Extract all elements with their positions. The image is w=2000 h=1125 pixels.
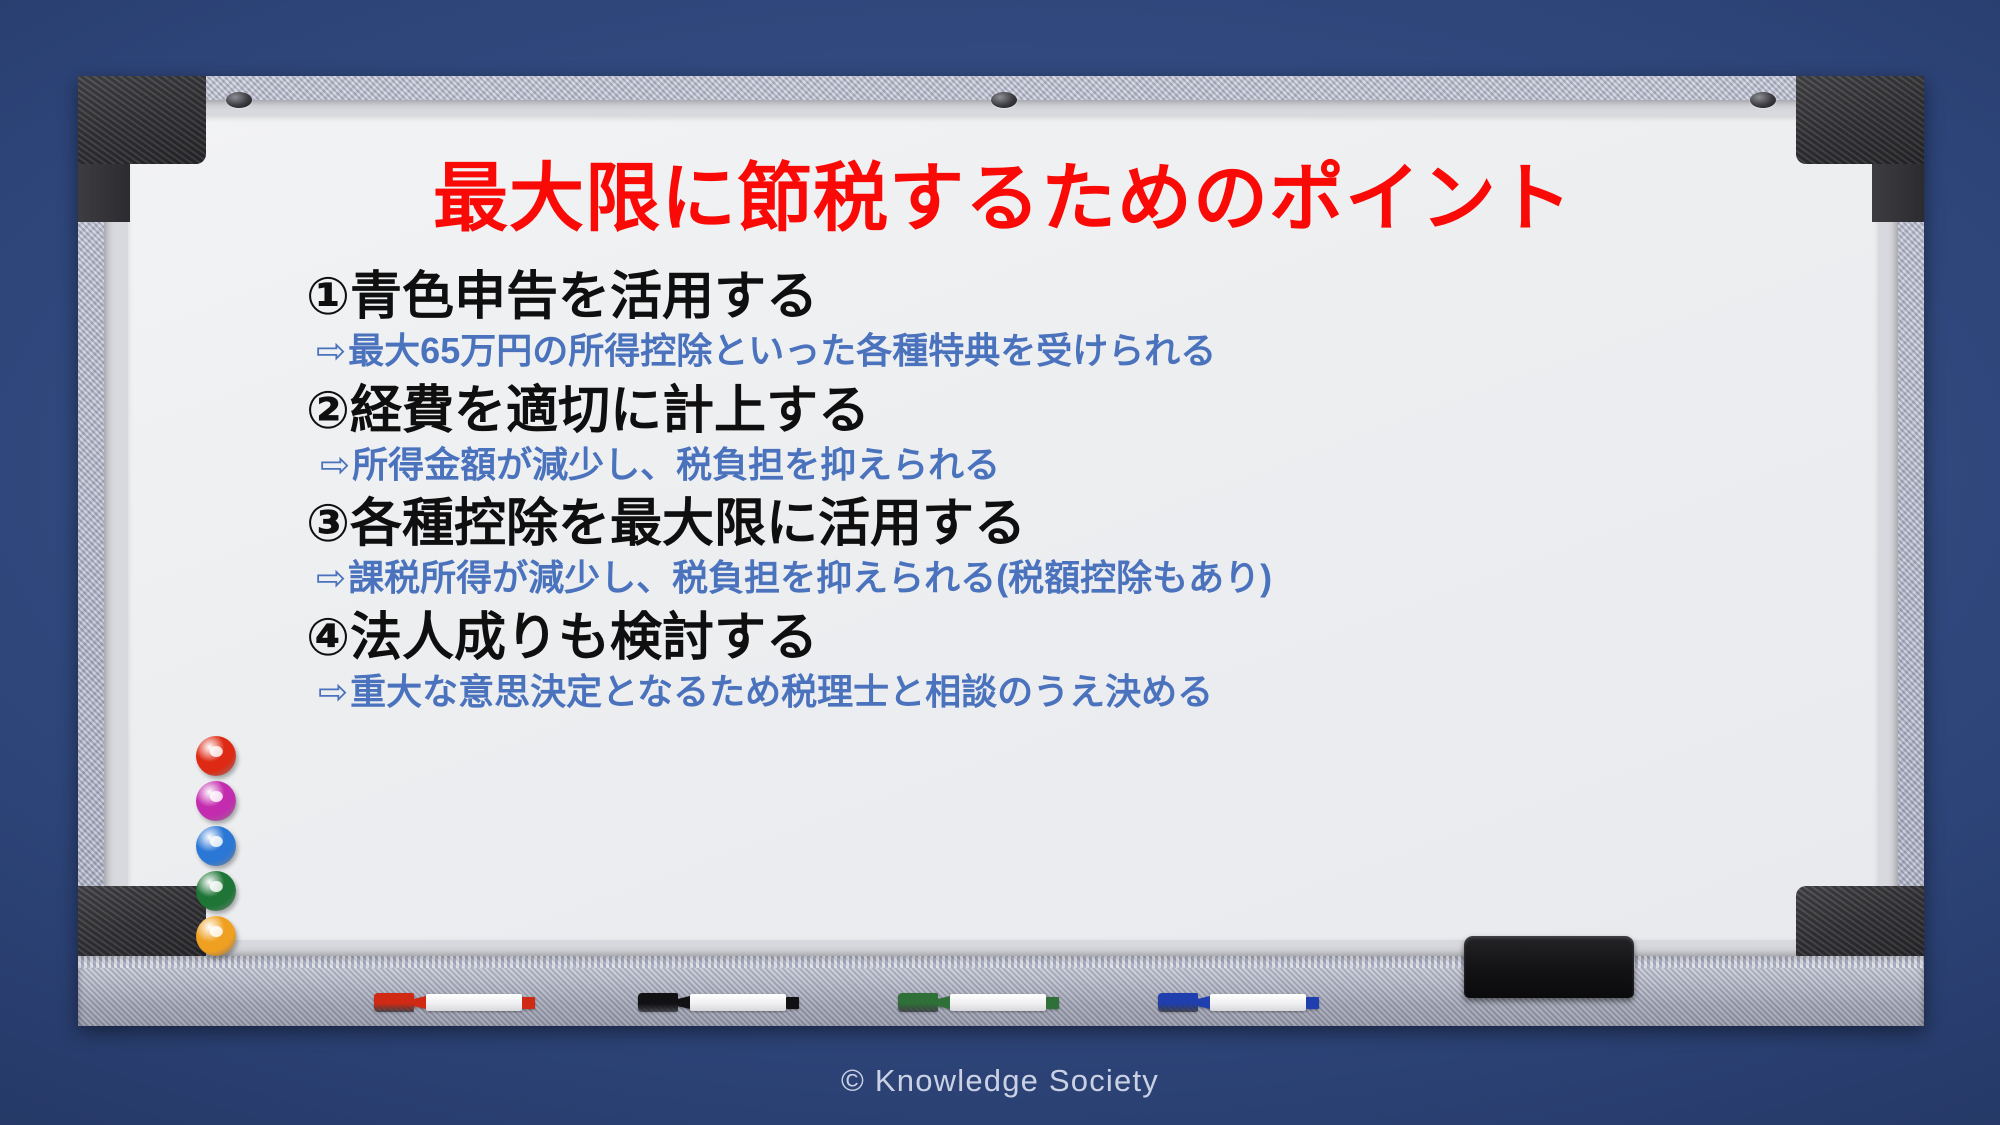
marker-body <box>690 994 786 1011</box>
list-item: ②経費を適切に計上する ⇨所得金額が減少し、税負担を抑えられる <box>306 381 1824 487</box>
point-heading-2: ②経費を適切に計上する <box>306 381 1824 441</box>
magnet-orange[interactable] <box>196 916 236 956</box>
point-sub-1: ⇨最大65万円の所得控除といった各種特典を受けられる <box>306 329 1824 372</box>
magnet-blue[interactable] <box>196 826 236 866</box>
list-item: ④法人成りも検討する ⇨重大な意思決定となるため税理士と相談のうえ決める <box>306 608 1824 714</box>
marker-cap <box>638 993 678 1012</box>
right-arrow-icon: ⇨ <box>316 557 346 598</box>
marker-cap <box>374 993 414 1012</box>
list-item: ③各種控除を最大限に活用する ⇨課税所得が減少し、税負担を抑えられる(税額控除も… <box>306 494 1824 600</box>
point-sub-2: ⇨所得金額が減少し、税負担を抑えられる <box>306 443 1824 486</box>
point-sub-4: ⇨重大な意思決定となるため税理士と相談のうえ決める <box>306 670 1824 713</box>
footer-copyright: © Knowledge Society <box>0 1063 2000 1099</box>
frame-corner-bottom-left <box>78 886 206 956</box>
magnet-green[interactable] <box>196 871 236 911</box>
mounting-screw-left-icon <box>226 92 252 108</box>
marker-tail <box>522 997 535 1009</box>
marker-tail <box>1046 997 1059 1009</box>
frame-corner-bottom-right <box>1796 886 1924 956</box>
whiteboard: 最大限に節税するためのポイント ①青色申告を活用する ⇨最大65万円の所得控除と… <box>78 76 1924 1026</box>
marker-black[interactable] <box>638 993 799 1012</box>
marker-body <box>950 994 1046 1011</box>
point-heading-1: ①青色申告を活用する <box>306 267 1824 327</box>
marker-tail <box>1306 997 1319 1009</box>
marker-cap <box>898 993 938 1012</box>
right-arrow-icon: ⇨ <box>316 330 346 371</box>
magnet-red[interactable] <box>196 736 236 776</box>
marker-red[interactable] <box>374 993 535 1012</box>
whiteboard-eraser[interactable] <box>1464 936 1634 998</box>
whiteboard-surface: 最大限に節税するためのポイント ①青色申告を活用する ⇨最大65万円の所得控除と… <box>128 116 1878 940</box>
frame-corner-top-right <box>1796 76 1924 164</box>
marker-nose <box>1198 996 1210 1009</box>
mounting-screw-center-icon <box>991 92 1017 108</box>
marker-blue[interactable] <box>1158 993 1319 1012</box>
marker-nose <box>414 996 426 1009</box>
right-arrow-icon: ⇨ <box>320 444 350 485</box>
point-sub-text-4: 重大な意思決定となるため税理士と相談のうえ決める <box>350 671 1213 712</box>
marker-green[interactable] <box>898 993 1059 1012</box>
marker-tray <box>78 956 1924 1026</box>
marker-tail <box>786 997 799 1009</box>
slide-canvas: 最大限に節税するためのポイント ①青色申告を活用する ⇨最大65万円の所得控除と… <box>0 0 2000 1125</box>
marker-body <box>426 994 522 1011</box>
marker-cap <box>1158 993 1198 1012</box>
slide-content: 最大限に節税するためのポイント ①青色申告を活用する ⇨最大65万円の所得控除と… <box>128 116 1878 940</box>
marker-body <box>1210 994 1306 1011</box>
point-sub-text-2: 所得金額が減少し、税負担を抑えられる <box>352 444 1000 485</box>
magnet-magenta[interactable] <box>196 781 236 821</box>
point-heading-4: ④法人成りも検討する <box>306 608 1824 668</box>
point-sub-text-1: 最大65万円の所得控除といった各種特典を受けられる <box>348 330 1216 371</box>
points-list: ①青色申告を活用する ⇨最大65万円の所得控除といった各種特典を受けられる ②経… <box>182 267 1824 713</box>
page-title: 最大限に節税するためのポイント <box>182 158 1824 239</box>
marker-nose <box>678 996 690 1009</box>
point-sub-text-3: 課税所得が減少し、税負担を抑えられる(税額控除もあり) <box>348 557 1272 598</box>
right-arrow-icon: ⇨ <box>318 671 348 712</box>
magnet-strip <box>196 736 242 961</box>
point-sub-3: ⇨課税所得が減少し、税負担を抑えられる(税額控除もあり) <box>306 556 1824 599</box>
mounting-screw-right-icon <box>1750 92 1776 108</box>
marker-nose <box>938 996 950 1009</box>
point-heading-3: ③各種控除を最大限に活用する <box>306 494 1824 554</box>
frame-corner-top-left <box>78 76 206 164</box>
list-item: ①青色申告を活用する ⇨最大65万円の所得控除といった各種特典を受けられる <box>306 267 1824 373</box>
marker-tray-lip <box>78 956 1924 968</box>
